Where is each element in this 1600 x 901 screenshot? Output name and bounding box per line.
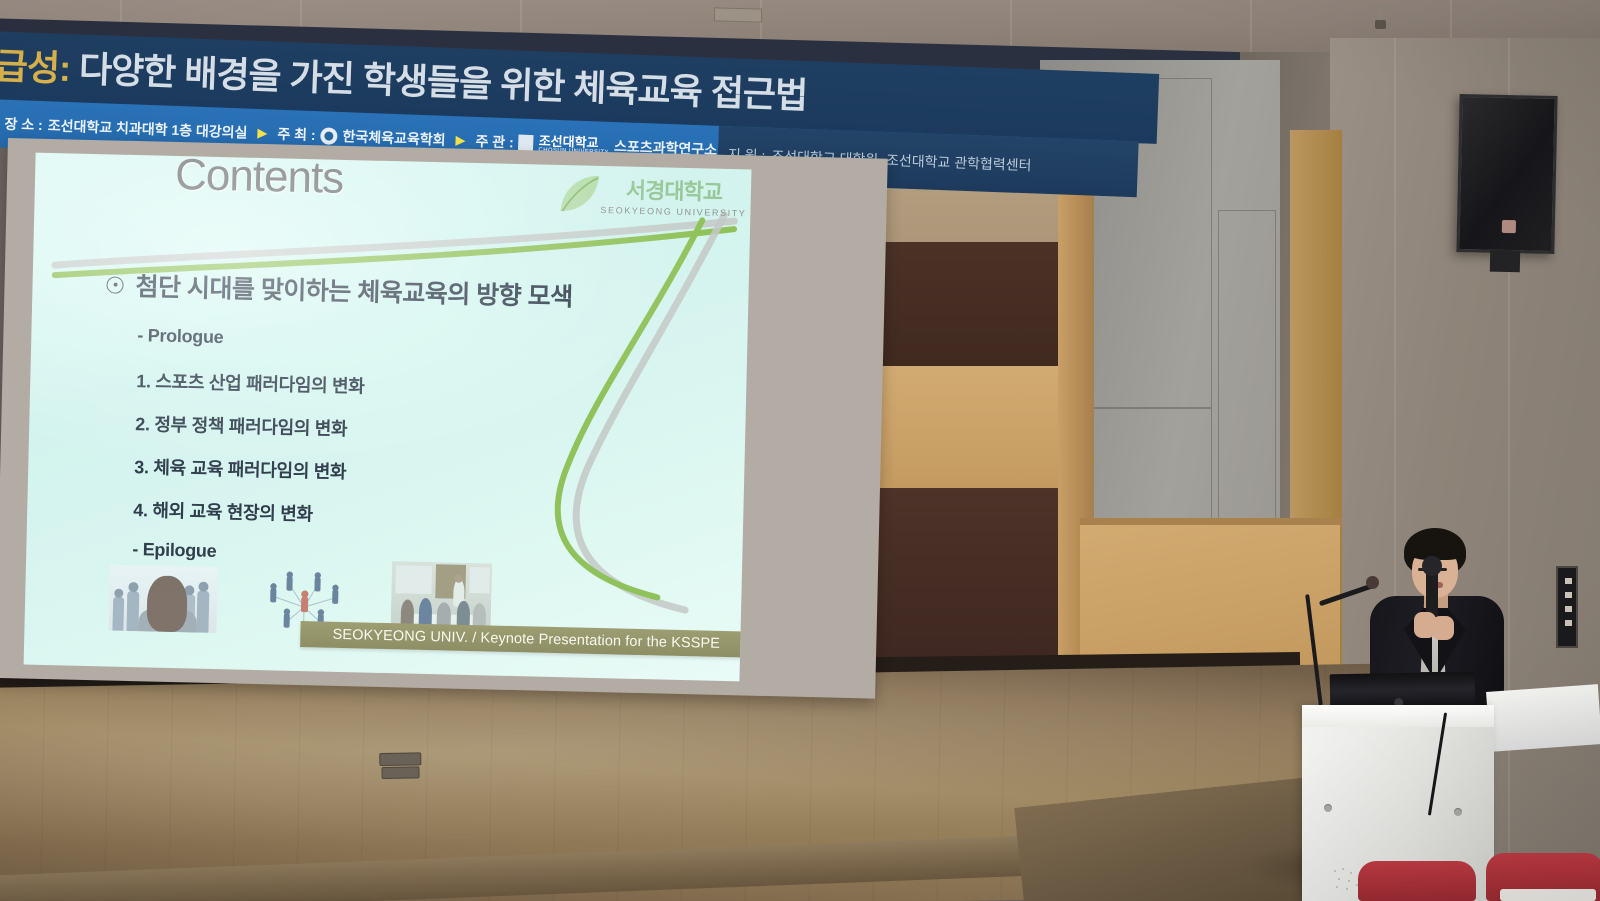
podium-screw — [1454, 808, 1462, 816]
audience-seat-armrest — [1500, 889, 1596, 901]
banner-info-host-key: 주 최 : — [277, 124, 316, 145]
seokyeong-logo-kr: 서경대학교 — [601, 172, 748, 207]
handheld-microphone-capsule — [1422, 556, 1442, 576]
circle-logo-icon — [320, 127, 338, 145]
leaf-icon — [554, 171, 603, 218]
wall-control-panel-icon[interactable] — [1556, 566, 1578, 648]
projection-screen: Contents 서경대학교 SEOKYEONG UNIVERSITY 첨단 시… — [0, 138, 888, 699]
wall-loudspeaker-icon — [1456, 94, 1557, 254]
presentation-slide: Contents 서경대학교 SEOKYEONG UNIVERSITY 첨단 시… — [24, 153, 752, 682]
slide-item-prologue: - Prologue — [137, 325, 223, 348]
slide-item-2: 2. 정부 정책 패러다임의 변화 — [135, 410, 348, 441]
podium-top-edge — [1302, 705, 1494, 727]
lecture-hall-scene: 보급성: 다양한 배경을 가진 학생들을 위한 체육교육 접근법 장 소 : 조… — [0, 0, 1600, 901]
seokyeong-logo: 서경대학교 SEOKYEONG UNIVERSITY — [600, 172, 747, 218]
slide-item-3: 3. 체육 교육 패러다임의 변화 — [134, 453, 347, 484]
slide-item-1: 1. 스포츠 산업 패러다임의 변화 — [136, 367, 365, 398]
triangle-icon: ▶ — [455, 132, 466, 148]
loudspeaker-badge — [1502, 220, 1516, 233]
ceiling-sprinkler-icon — [1378, 4, 1383, 26]
slide-item-4: 4. 해외 교육 현장의 변화 — [133, 496, 313, 526]
audience-seat — [1358, 861, 1476, 901]
ceiling-vent-icon — [714, 7, 762, 22]
triangle-icon: ▶ — [257, 125, 268, 141]
stage-floor-plate — [381, 766, 419, 779]
target-bullet-icon — [106, 276, 123, 293]
banner-info-venue-value: 조선대학교 치과대학 1층 대강의실 — [47, 115, 247, 142]
banner-info-venue-key: 장 소 : — [4, 114, 43, 135]
presenter-hand-right — [1432, 616, 1454, 640]
podium-side-shelf — [1486, 684, 1600, 752]
crowd-photo — [108, 565, 218, 634]
banner-headline-highlight: 보급성: — [0, 44, 71, 89]
page-title: Contents — [175, 153, 344, 204]
loudspeaker-mount — [1490, 250, 1520, 273]
podium-screw — [1324, 804, 1332, 812]
stage-floor-plate — [379, 752, 421, 766]
square-logo-icon — [518, 134, 534, 152]
